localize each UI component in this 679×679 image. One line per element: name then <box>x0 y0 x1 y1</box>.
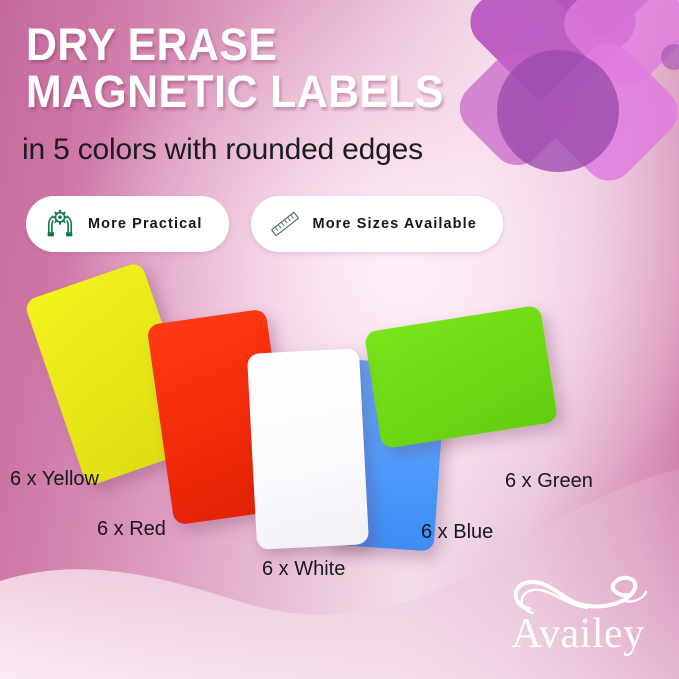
brand-logo: Availey <box>503 575 653 655</box>
subheadline: in 5 colors with rounded edges <box>22 133 423 167</box>
product-label-yellow: 6 x Yellow <box>10 468 99 491</box>
product-label-white: 6 x White <box>262 558 345 581</box>
badge-label: More Practical <box>88 216 203 232</box>
product-label-red: 6 x Red <box>97 518 166 541</box>
feature-badges: More Practical <box>26 196 503 252</box>
badge-more-practical[interactable]: More Practical <box>26 196 229 252</box>
headline-line-1: DRY ERASE <box>26 22 444 69</box>
product-label-green: 6 x Green <box>505 470 593 493</box>
ruler-icon <box>267 206 303 242</box>
headline-line-2: MAGNETIC LABELS <box>26 69 444 116</box>
badge-label: More Sizes Available <box>313 216 477 232</box>
product-card-white <box>247 348 369 550</box>
product-card-green <box>364 305 558 449</box>
headline-block: DRY ERASE MAGNETIC LABELS <box>26 22 466 116</box>
product-label-blue: 6 x Blue <box>421 521 493 544</box>
badge-more-sizes-available[interactable]: More Sizes Available <box>251 196 503 252</box>
hands-gear-icon <box>42 206 78 242</box>
product-poster: DRY ERASE MAGNETIC LABELS in 5 colors wi… <box>0 0 679 679</box>
brand-name: Availey <box>503 613 653 655</box>
